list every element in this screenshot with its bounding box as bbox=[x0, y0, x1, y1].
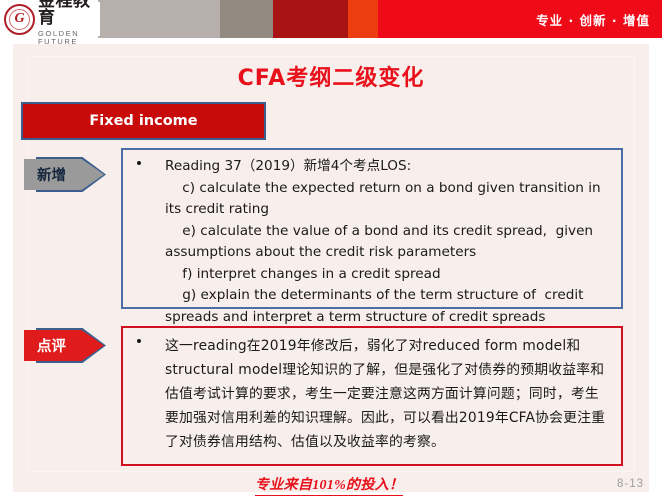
seal-monogram: G bbox=[6, 6, 33, 33]
tag-arrow-new-label: 新增 bbox=[24, 159, 104, 190]
page-title: CFA考纲二级变化 bbox=[13, 60, 649, 92]
slide-body: CFA考纲二级变化 Fixed income 新增 Reading 37（201… bbox=[13, 44, 649, 492]
brand-name-cn: 金程教育 bbox=[38, 0, 100, 27]
page-number: 8-13 bbox=[617, 478, 644, 490]
tag-arrow-new: 新增 bbox=[22, 157, 106, 192]
bullet-row: Reading 37（2019）新增4个考点LOS: c) calculate … bbox=[123, 150, 621, 328]
content-text-new: Reading 37（2019）新增4个考点LOS: c) calculate … bbox=[133, 156, 611, 328]
header-band-dark-gray bbox=[220, 0, 273, 38]
tag-arrow-comment: 点评 bbox=[22, 328, 106, 363]
section-banner-fixed-income: Fixed income bbox=[21, 102, 266, 140]
tag-arrow-comment-label: 点评 bbox=[24, 330, 104, 361]
header-band-orange bbox=[348, 0, 378, 38]
seal-icon: G bbox=[4, 4, 35, 35]
content-box-new: Reading 37（2019）新增4个考点LOS: c) calculate … bbox=[121, 148, 623, 309]
brand-name-en: GOLDEN FUTURE bbox=[38, 30, 100, 45]
bullet-row: 这一reading在2019年修改后，弱化了对reduced form mode… bbox=[123, 328, 621, 454]
header-band-light-gray bbox=[98, 0, 220, 38]
brand-logo: G 金程教育 GOLDEN FUTURE bbox=[4, 2, 100, 36]
footer-slogan: 专业来自101%的投入！ bbox=[255, 474, 403, 496]
bullet-dot-icon bbox=[137, 339, 141, 343]
content-box-comment: 这一reading在2019年修改后，弱化了对reduced form mode… bbox=[121, 326, 623, 466]
page-header: G 金程教育 GOLDEN FUTURE 专业 · 创新 · 增值 bbox=[0, 0, 662, 38]
bullet-dot-icon bbox=[137, 161, 141, 165]
header-band-dark-red bbox=[273, 0, 348, 38]
content-text-comment: 这一reading在2019年修改后，弱化了对reduced form mode… bbox=[133, 334, 611, 454]
header-slogan: 专业 · 创新 · 增值 bbox=[536, 0, 650, 38]
brand-logo-text: 金程教育 GOLDEN FUTURE bbox=[38, 0, 100, 45]
